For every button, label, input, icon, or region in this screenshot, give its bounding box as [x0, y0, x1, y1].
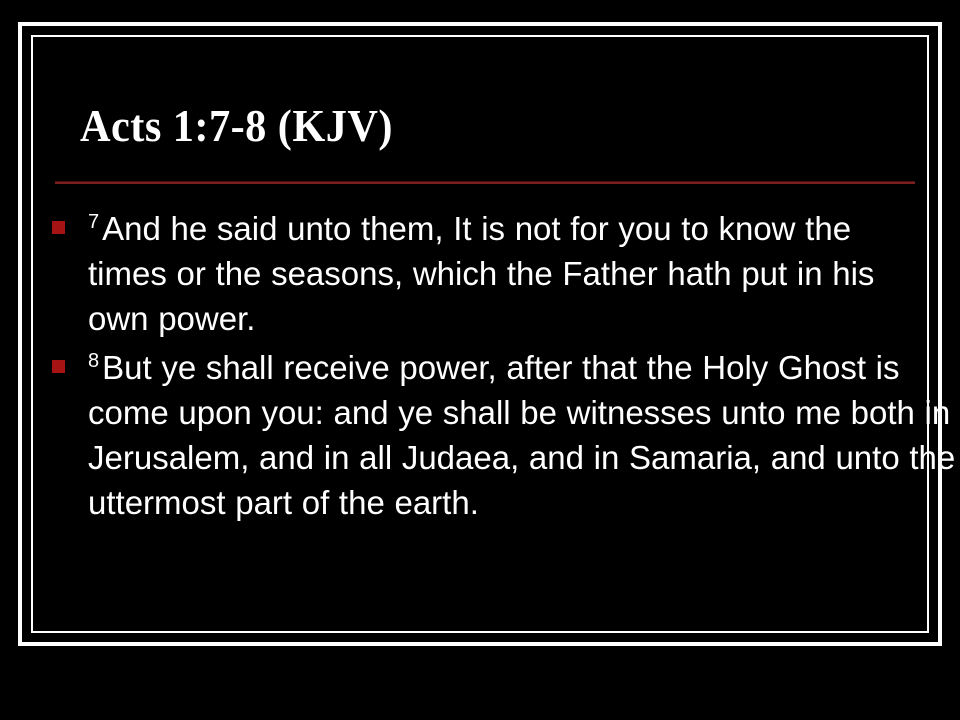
bullet-item-text: 8But ye shall receive power, after that … [88, 345, 960, 525]
bullet-list-item: 7And he said unto them, It is not for yo… [48, 206, 928, 341]
square-bullet-icon [52, 360, 65, 373]
bullet-list-item: 8But ye shall receive power, after that … [48, 345, 928, 525]
verse-number: 7 [88, 211, 102, 233]
verse-number: 8 [88, 350, 102, 372]
bullet-item-text: 7And he said unto them, It is not for yo… [88, 206, 908, 341]
slide-body: 7And he said unto them, It is not for yo… [48, 206, 928, 529]
slide-title: Acts 1:7-8 (KJV) [80, 98, 853, 160]
square-bullet-icon [52, 221, 65, 234]
verse-body: But ye shall receive power, after that t… [88, 349, 955, 521]
title-divider-rule [55, 181, 915, 184]
verse-body: And he said unto them, It is not for you… [88, 210, 874, 337]
presentation-slide: Acts 1:7-8 (KJV) 7And he said unto them,… [0, 0, 960, 720]
